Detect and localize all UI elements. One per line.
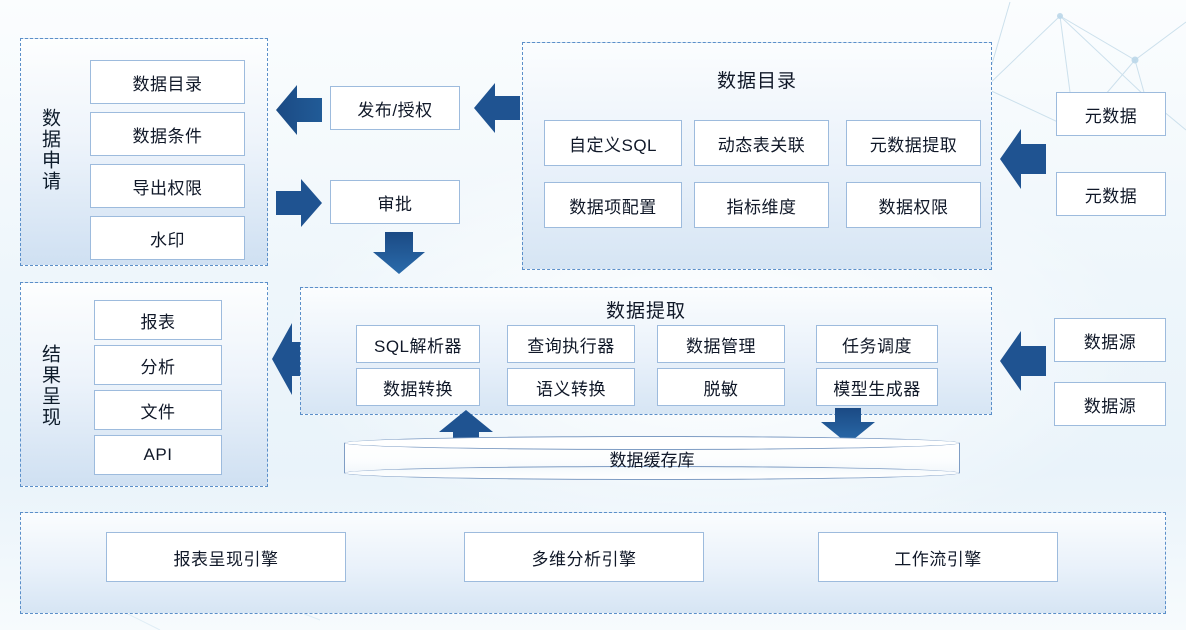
box-data-request-1[interactable]: 数据条件 [90,112,245,156]
box-datasource-1[interactable]: 数据源 [1054,382,1166,426]
box-data-request-0[interactable]: 数据目录 [90,60,245,104]
group-result-presentation-label: 结果呈现 [30,298,68,473]
box-engine-2[interactable]: 工作流引擎 [818,532,1058,582]
box-engine-1[interactable]: 多维分析引擎 [464,532,704,582]
arrow-publish-to-request-left-arrow-icon [276,84,322,136]
box-metadata-1[interactable]: 元数据 [1056,172,1166,216]
box-metadata-0[interactable]: 元数据 [1056,92,1166,136]
box-catalog-4[interactable]: 指标维度 [694,182,829,228]
box-extraction-1[interactable]: 查询执行器 [507,325,635,363]
arrow-metadata-to-catalog-left-arrow-icon [1000,128,1046,190]
box-extraction-0[interactable]: SQL解析器 [356,325,480,363]
cylinder-label: 数据缓存库 [344,436,960,480]
cylinder-data-cache: 数据缓存库 [344,436,960,480]
box-data-request-2[interactable]: 导出权限 [90,164,245,208]
arrow-catalog-to-publish-left-arrow-icon [474,82,520,134]
box-extraction-2[interactable]: 数据管理 [657,325,785,363]
arrow-request-to-approval-right-arrow-icon [276,178,322,228]
box-catalog-1[interactable]: 动态表关联 [694,120,829,166]
box-extraction-7[interactable]: 模型生成器 [816,368,938,406]
box-catalog-0[interactable]: 自定义SQL [544,120,682,166]
box-result-3[interactable]: API [94,435,222,475]
arrow-datasource-to-extraction-left-arrow-icon [1000,330,1046,392]
box-publish-authorize[interactable]: 发布/授权 [330,86,460,130]
box-result-0[interactable]: 报表 [94,300,222,340]
box-datasource-0[interactable]: 数据源 [1054,318,1166,362]
box-data-request-3[interactable]: 水印 [90,216,245,260]
box-result-2[interactable]: 文件 [94,390,222,430]
box-extraction-4[interactable]: 数据转换 [356,368,480,406]
box-extraction-5[interactable]: 语义转换 [507,368,635,406]
diagram-canvas: 数据申请 数据目录 数据条件 导出权限 水印 结果呈现 报表 分析 文件 API… [0,0,1186,630]
group-data-request-label: 数据申请 [30,50,68,250]
panel-data-catalog-title: 数据目录 [522,66,992,93]
box-catalog-2[interactable]: 元数据提取 [846,120,981,166]
box-extraction-3[interactable]: 任务调度 [816,325,938,363]
arrow-approval-to-extraction-down-arrow-icon [372,232,426,274]
panel-data-extraction-title: 数据提取 [300,296,992,323]
box-extraction-6[interactable]: 脱敏 [657,368,785,406]
box-result-1[interactable]: 分析 [94,345,222,385]
box-catalog-3[interactable]: 数据项配置 [544,182,682,228]
box-approval[interactable]: 审批 [330,180,460,224]
box-catalog-5[interactable]: 数据权限 [846,182,981,228]
box-engine-0[interactable]: 报表呈现引擎 [106,532,346,582]
